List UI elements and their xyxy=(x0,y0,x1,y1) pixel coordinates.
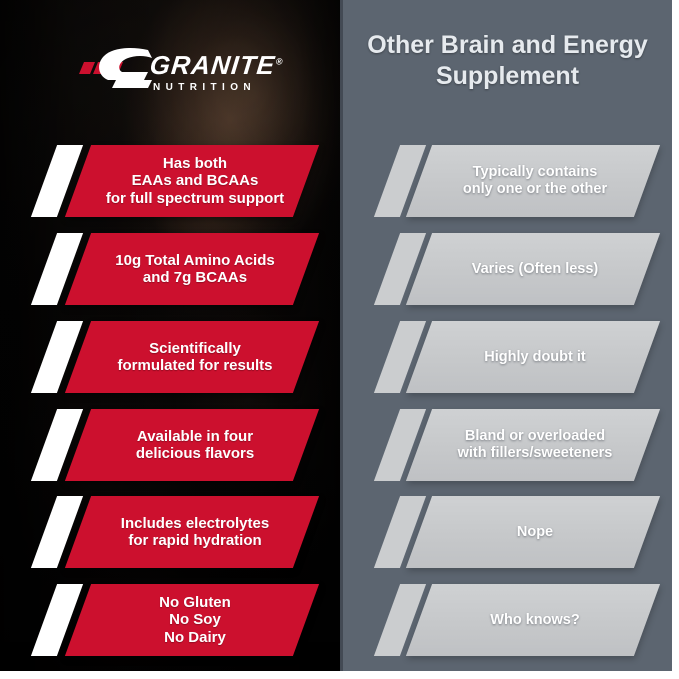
comparison-infographic: GRANITE® NUTRITION Has both EAAs and BCA… xyxy=(0,0,679,679)
other-text-4: Bland or overloaded with fillers/sweeten… xyxy=(454,428,613,462)
granite-product-column: GRANITE® NUTRITION Has both EAAs and BCA… xyxy=(0,0,340,671)
feature-text-3: Scientifically formulated for results xyxy=(111,340,272,375)
feature-banner-5: Includes electrolytes for rapid hydratio… xyxy=(78,496,306,568)
other-text-3: Highly doubt it xyxy=(480,349,585,366)
feature-banner-1: Has both EAAs and BCAAs for full spectru… xyxy=(78,145,306,217)
other-supplement-column: Other Brain and Energy Supplement Typica… xyxy=(343,0,672,671)
other-text-6: Who knows? xyxy=(486,612,579,629)
other-banner-5: Nope xyxy=(419,496,647,568)
other-text-1: Typically contains only one or the other xyxy=(459,164,607,198)
other-banner-3: Highly doubt it xyxy=(419,321,647,393)
feature-text-1: Has both EAAs and BCAAs for full spectru… xyxy=(100,155,284,207)
feature-text-4: Available in four delicious flavors xyxy=(130,428,254,463)
feature-text-5: Includes electrolytes for rapid hydratio… xyxy=(115,515,269,550)
other-supplement-rows: Typically contains only one or the other… xyxy=(343,0,672,671)
feature-text-6: No Gluten No Soy No Dairy xyxy=(153,594,231,646)
feature-banner-6: No Gluten No Soy No Dairy xyxy=(78,584,306,656)
feature-text-2: 10g Total Amino Acids and 7g BCAAs xyxy=(109,252,274,287)
granite-feature-rows: Has both EAAs and BCAAs for full spectru… xyxy=(0,0,340,671)
feature-banner-2: 10g Total Amino Acids and 7g BCAAs xyxy=(78,233,306,305)
other-banner-1: Typically contains only one or the other xyxy=(419,145,647,217)
other-text-5: Nope xyxy=(513,524,553,541)
other-banner-2: Varies (Often less) xyxy=(419,233,647,305)
other-banner-6: Who knows? xyxy=(419,584,647,656)
other-banner-4: Bland or overloaded with fillers/sweeten… xyxy=(419,409,647,481)
feature-banner-3: Scientifically formulated for results xyxy=(78,321,306,393)
other-text-2: Varies (Often less) xyxy=(468,261,599,278)
feature-banner-4: Available in four delicious flavors xyxy=(78,409,306,481)
